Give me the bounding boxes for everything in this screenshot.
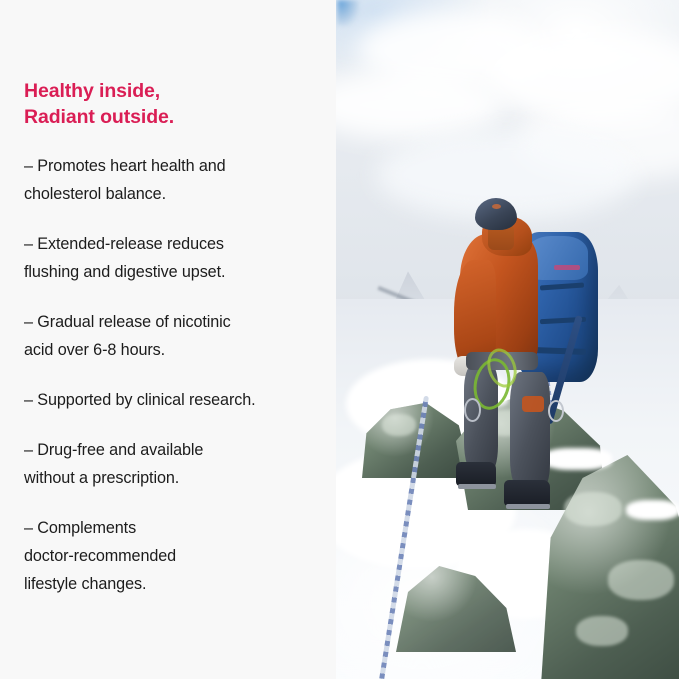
bullet-line: – Complements: [24, 514, 324, 542]
list-item: – Extended-release reduces flushing and …: [24, 230, 324, 286]
carabiner: [548, 400, 564, 422]
page-title: Healthy inside, Radiant outside.: [24, 78, 174, 130]
crampon: [458, 484, 496, 489]
list-item: – Promotes heart health and cholesterol …: [24, 152, 324, 208]
bullet-line: – Drug-free and available: [24, 436, 324, 464]
bullet-line: – Supported by clinical research.: [24, 386, 324, 414]
headline-line-1: Healthy inside,: [24, 78, 174, 104]
list-item: – Gradual release of nicotinic acid over…: [24, 308, 324, 364]
bullet-line: lifestyle changes.: [24, 570, 324, 598]
mountaineering-boot: [504, 480, 550, 506]
list-item: – Supported by clinical research.: [24, 386, 324, 414]
bullet-line: without a prescription.: [24, 464, 324, 492]
lifestyle-photo: [336, 0, 679, 679]
text-panel: Healthy inside, Radiant outside. – Promo…: [0, 0, 336, 679]
climbing-helmet: [475, 198, 517, 230]
benefit-list: – Promotes heart health and cholesterol …: [24, 152, 324, 598]
bullet-line: – Promotes heart health and: [24, 152, 324, 180]
mountaineering-boot: [456, 462, 496, 486]
knee-patch: [522, 396, 544, 412]
helmet-vent: [492, 204, 501, 209]
bullet-line: acid over 6-8 hours.: [24, 336, 324, 364]
carabiner: [464, 398, 481, 422]
climber-figure: [336, 0, 679, 679]
bullet-line: – Extended-release reduces: [24, 230, 324, 258]
bullet-line: flushing and digestive upset.: [24, 258, 324, 286]
crampon: [506, 504, 550, 509]
bullet-line: doctor-recommended: [24, 542, 324, 570]
headline-line-2: Radiant outside.: [24, 104, 174, 130]
backpack-accent: [554, 265, 580, 270]
list-item: – Complements doctor-recommended lifesty…: [24, 514, 324, 598]
climber-leg: [510, 372, 550, 490]
list-item: – Drug-free and available without a pres…: [24, 436, 324, 492]
product-benefits-panel: Healthy inside, Radiant outside. – Promo…: [0, 0, 679, 679]
bullet-line: – Gradual release of nicotinic: [24, 308, 324, 336]
bullet-line: cholesterol balance.: [24, 180, 324, 208]
